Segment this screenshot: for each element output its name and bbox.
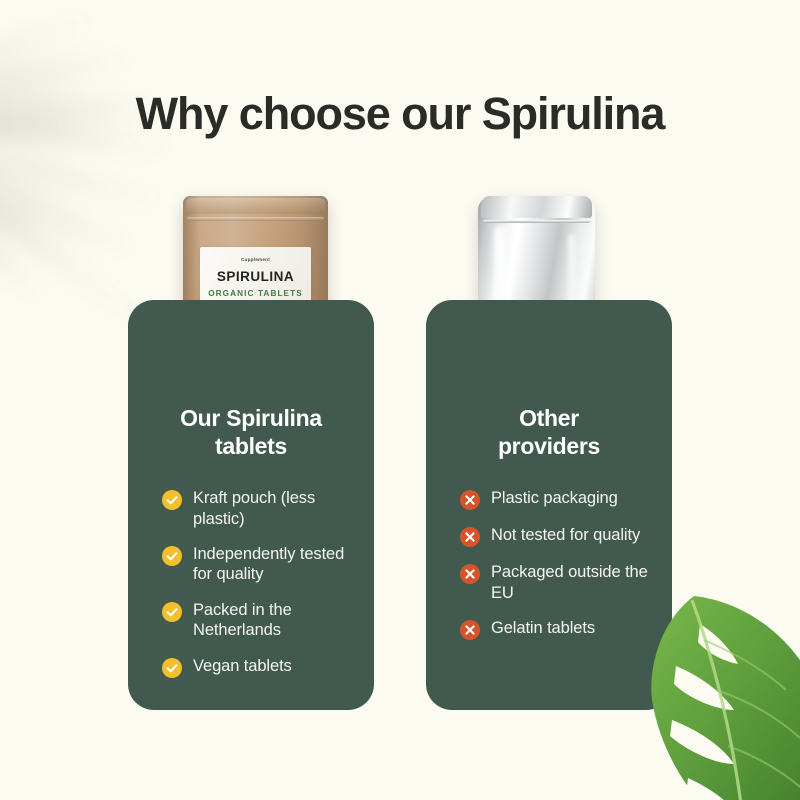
list-item: Plastic packaging bbox=[460, 488, 650, 510]
product-subtitle: ORGANIC TABLETS bbox=[208, 289, 303, 298]
cross-circle-icon bbox=[460, 564, 480, 584]
card-heading-line2: providers bbox=[498, 433, 600, 459]
list-item: Not tested for quality bbox=[460, 525, 650, 547]
kraft-pouch-zipper bbox=[187, 217, 324, 221]
comparison-card-our-product: Our Spirulina tablets Kraft pouch (less … bbox=[128, 300, 374, 710]
check-circle-icon bbox=[162, 602, 182, 622]
comparison-card-other-providers: Other providers Plastic packaging Not te… bbox=[426, 300, 672, 710]
feature-list-other-providers: Plastic packaging Not tested for quality… bbox=[448, 488, 650, 640]
product-name: SPIRULINA bbox=[217, 269, 294, 284]
feature-label: Not tested for quality bbox=[491, 525, 640, 545]
feature-label: Packed in the Netherlands bbox=[193, 600, 352, 641]
list-item: Kraft pouch (less plastic) bbox=[162, 488, 352, 529]
feature-label: Gelatin tablets bbox=[491, 618, 595, 638]
feature-label: Independently tested for quality bbox=[193, 544, 352, 585]
check-circle-icon bbox=[162, 546, 182, 566]
silver-pouch-seam bbox=[483, 220, 590, 223]
feature-list-our-product: Kraft pouch (less plastic) Independently… bbox=[150, 488, 352, 678]
list-item: Independently tested for quality bbox=[162, 544, 352, 585]
cross-circle-icon bbox=[460, 527, 480, 547]
page-title: Why choose our Spirulina bbox=[0, 88, 800, 140]
card-heading: Other providers bbox=[448, 404, 650, 460]
silver-pouch-top-seal bbox=[481, 196, 592, 218]
promo-comparison-graphic: Why choose our Spirulina Cupplement SPIR… bbox=[0, 0, 800, 800]
kraft-pouch-top-seal bbox=[186, 198, 325, 214]
list-item: Packaged outside the EU bbox=[460, 562, 650, 603]
card-heading-line1: Other bbox=[519, 405, 579, 431]
card-heading-line2: tablets bbox=[215, 433, 287, 459]
feature-label: Kraft pouch (less plastic) bbox=[193, 488, 352, 529]
list-item: Vegan tablets bbox=[162, 656, 352, 678]
cross-circle-icon bbox=[460, 490, 480, 510]
feature-label: Plastic packaging bbox=[491, 488, 618, 508]
product-brand: Cupplement bbox=[241, 257, 270, 262]
check-circle-icon bbox=[162, 490, 182, 510]
feature-label: Vegan tablets bbox=[193, 656, 292, 676]
list-item: Gelatin tablets bbox=[460, 618, 650, 640]
card-heading-line1: Our Spirulina bbox=[180, 405, 322, 431]
card-heading: Our Spirulina tablets bbox=[150, 404, 352, 460]
feature-label: Packaged outside the EU bbox=[491, 562, 650, 603]
list-item: Packed in the Netherlands bbox=[162, 600, 352, 641]
check-circle-icon bbox=[162, 658, 182, 678]
cross-circle-icon bbox=[460, 620, 480, 640]
